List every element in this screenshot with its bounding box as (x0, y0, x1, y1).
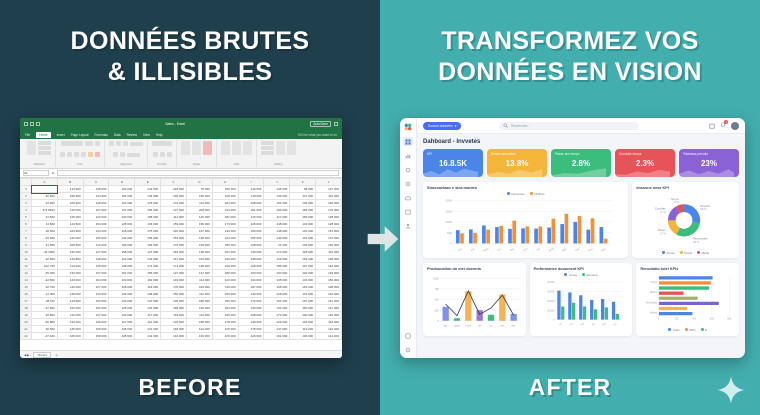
cell[interactable]: 119 000 (290, 326, 316, 333)
row-header[interactable]: 22 (21, 333, 32, 340)
formula-input[interactable] (57, 170, 339, 176)
cell[interactable]: 103 000 (290, 228, 316, 235)
cell[interactable]: 146 000 (109, 326, 135, 333)
table-row[interactable]: 232 500108 900134 000154 000146 000196 0… (21, 193, 342, 200)
cell[interactable]: 124 000 (109, 186, 135, 193)
cell[interactable]: 165 000 (83, 326, 109, 333)
undo-icon[interactable] (30, 122, 34, 126)
cell[interactable]: 129 000 (264, 319, 290, 326)
cell[interactable]: 114 000 (186, 277, 212, 284)
wrap-text-button[interactable] (130, 142, 143, 146)
row-header[interactable]: 12 (21, 263, 32, 270)
cell[interactable]: 32 750 (32, 284, 58, 291)
sidebar-item-charts[interactable] (403, 151, 413, 160)
cell[interactable]: 178 000 (238, 326, 264, 333)
cell[interactable]: 110 000 (316, 193, 342, 200)
align-left-icon[interactable] (109, 141, 114, 146)
sidebar-item-briefcase[interactable] (403, 193, 413, 202)
cell[interactable]: 174 000 (161, 263, 187, 270)
cell[interactable]: 159 000 (212, 186, 238, 193)
cell[interactable]: 147 000 (264, 326, 290, 333)
cell[interactable]: 148 000 (316, 200, 342, 207)
cell[interactable]: 109 000 (290, 200, 316, 207)
cell[interactable]: 186 000 (264, 263, 290, 270)
production-chart-card[interactable]: Prodoucation du mer doennts 025050075010… (423, 263, 526, 336)
percent-icon[interactable] (160, 152, 165, 157)
cell[interactable]: -27 400 (32, 333, 58, 340)
column-header[interactable]: H (212, 179, 238, 186)
monthly-chart-card[interactable]: Stracouclaan e sica montes Dépenses Chif… (423, 182, 628, 258)
cell[interactable]: 146 000 (161, 333, 187, 340)
cell[interactable]: 138 000 (238, 256, 264, 263)
cell[interactable]: 150 000 (161, 291, 187, 298)
cell[interactable]: 114 000 (186, 312, 212, 319)
cell[interactable]: 21 000 (264, 242, 290, 249)
cell[interactable]: 178 000 (212, 319, 238, 326)
cell[interactable]: 28 511 (32, 298, 58, 305)
cell[interactable]: 169 000 (290, 214, 316, 221)
cell[interactable]: 143 000 (290, 221, 316, 228)
cell[interactable]: 127 000 (83, 284, 109, 291)
align-right-icon[interactable] (123, 141, 128, 146)
cell[interactable]: 131 000 (264, 305, 290, 312)
cell[interactable]: 49 800 (32, 312, 58, 319)
row-header[interactable]: 11 (21, 256, 32, 263)
cell[interactable]: 144 500 (57, 221, 83, 228)
cell[interactable]: 118 000 (238, 193, 264, 200)
cell[interactable]: 151 000 (212, 249, 238, 256)
cell[interactable]: 146 000 (290, 319, 316, 326)
excel-sheet-bar[interactable]: ◀ ▶ Sheet1 ＋ (20, 350, 342, 358)
ribbon-tab-view[interactable]: View (143, 133, 150, 137)
cell[interactable]: 143 000 (109, 298, 135, 305)
row-header[interactable]: 3 (21, 200, 32, 207)
cell[interactable]: 112 000 (57, 312, 83, 319)
cell[interactable]: 32 500 (32, 193, 58, 200)
cell[interactable]: 118 000 (109, 284, 135, 291)
paste-button[interactable] (27, 141, 36, 155)
ribbon-tab-help[interactable]: Help (156, 133, 163, 137)
cell[interactable]: 183 000 (161, 249, 187, 256)
format-cells-button[interactable] (243, 141, 252, 155)
cell[interactable]: 183 000 (290, 207, 316, 214)
spreadsheet-table[interactable]: ABCDEFGHIJKL 1134 900148 000124 000144 0… (20, 178, 342, 340)
cell[interactable]: 137 000 (186, 270, 212, 277)
cell[interactable]: 123 000 (212, 277, 238, 284)
search-input[interactable]: Rechercher... (499, 122, 639, 130)
cell[interactable]: 128 000 (212, 193, 238, 200)
cell[interactable]: 116 000 (316, 249, 342, 256)
cell[interactable]: 180 000 (212, 242, 238, 249)
cell[interactable]: 156 000 (212, 298, 238, 305)
close-icon[interactable] (334, 122, 338, 126)
cell[interactable]: 137 000 (161, 207, 187, 214)
ribbon-tab-page-layout[interactable]: Page Layout (71, 133, 89, 137)
cell[interactable]: 148 000 (109, 221, 135, 228)
cell[interactable]: 146 000 (212, 256, 238, 263)
cell[interactable]: 162 000 (135, 277, 161, 284)
cell[interactable]: 143 000 (57, 277, 83, 284)
dashboard-sidebar[interactable] (400, 118, 417, 358)
cell[interactable]: 129 000 (238, 333, 264, 340)
row-header[interactable]: 19 (21, 312, 32, 319)
cell[interactable]: 117 000 (135, 312, 161, 319)
cell[interactable]: 208 000 (186, 207, 212, 214)
cell[interactable]: -22 500 (32, 277, 58, 284)
cell[interactable]: 115 000 (57, 207, 83, 214)
align-center-icon[interactable] (116, 141, 121, 146)
cell[interactable]: -44 3000 (32, 249, 58, 256)
cell[interactable]: 141 000 (316, 305, 342, 312)
cell[interactable]: 126 000 (212, 326, 238, 333)
excel-grid[interactable]: ABCDEFGHIJKL 1134 900148 000124 000144 0… (20, 178, 342, 350)
cell[interactable]: 169 000 (212, 291, 238, 298)
cell[interactable]: 158 000 (109, 249, 135, 256)
cell[interactable]: 134 000 (57, 319, 83, 326)
cell[interactable]: 153 000 (161, 312, 187, 319)
cell[interactable]: 134 000 (238, 277, 264, 284)
row-header[interactable]: 16 (21, 291, 32, 298)
cell[interactable]: 176 000 (316, 207, 342, 214)
cell[interactable]: 126 000 (212, 263, 238, 270)
cell[interactable]: 145 000 (57, 326, 83, 333)
cell[interactable]: 168 000 (186, 319, 212, 326)
format-painter-button[interactable] (38, 151, 51, 155)
table-row[interactable]: 18-47 600163 000152 000128 000136 000168… (21, 305, 342, 312)
cell[interactable]: 140 000 (161, 228, 187, 235)
cell[interactable]: 148 000 (238, 319, 264, 326)
cell[interactable]: 173 000 (264, 312, 290, 319)
cell[interactable]: 30 500 (32, 326, 58, 333)
cell[interactable]: 130 000 (83, 319, 109, 326)
cell[interactable]: 155 000 (238, 235, 264, 242)
cell[interactable]: 144 000 (57, 298, 83, 305)
cell[interactable]: 176 000 (238, 298, 264, 305)
cell[interactable]: 127 000 (316, 186, 342, 193)
cell[interactable]: 128 000 (238, 312, 264, 319)
table-row[interactable]: 531 500125 000129 000130 000158 000114 0… (21, 214, 342, 221)
cell[interactable]: 148 000 (264, 228, 290, 235)
cell[interactable]: 112 000 (186, 291, 212, 298)
cell[interactable]: 168 000 (264, 284, 290, 291)
cell[interactable]: 107 000 (290, 263, 316, 270)
cell[interactable]: 138 000 (57, 291, 83, 298)
ribbon-group-editing[interactable]: Editing (257, 140, 300, 167)
cell[interactable]: 145 000 (238, 305, 264, 312)
indent-icon[interactable] (113, 152, 118, 157)
ribbon-tab-file[interactable]: File (25, 133, 30, 137)
table-row[interactable]: 644 800144 500154 000148 000136 000159 0… (21, 221, 342, 228)
cell[interactable]: 108 900 (57, 193, 83, 200)
row-header[interactable]: 2 (21, 193, 32, 200)
cell[interactable]: 123 000 (212, 207, 238, 214)
cell[interactable]: 147 000 (290, 193, 316, 200)
kpi-card[interactable]: KPI 16.8.5K (423, 149, 483, 177)
cell[interactable]: 152 000 (83, 305, 109, 312)
fill-color-icon[interactable] (88, 152, 93, 157)
table-row[interactable]: 1949 800112 000137 000143 000117 000153 … (21, 312, 342, 319)
cell[interactable]: -11 000 (32, 291, 58, 298)
cell[interactable]: 137 000 (83, 312, 109, 319)
cell[interactable]: -45 000 (32, 270, 58, 277)
cell[interactable]: 128 000 (316, 221, 342, 228)
row-header[interactable]: 20 (21, 319, 32, 326)
table-row[interactable]: 13-45 000133 000167 000151 000156 000127… (21, 270, 342, 277)
notifications-button[interactable]: 3 (720, 122, 726, 129)
excel-ribbon-tabs[interactable]: File Home Insert Page Layout Formulas Da… (20, 130, 342, 139)
ribbon-tab-insert[interactable]: Insert (57, 133, 65, 137)
cell[interactable]: 161 000 (264, 333, 290, 340)
row-header[interactable]: 9 (21, 242, 32, 249)
cell[interactable]: 139 000 (186, 242, 212, 249)
cell[interactable]: 163 000 (186, 284, 212, 291)
cell[interactable]: 126 000 (238, 221, 264, 228)
cell[interactable]: 102 700 (32, 263, 58, 270)
cell[interactable]: 98 000 (290, 186, 316, 193)
cut-button[interactable] (38, 141, 51, 145)
kpi-card[interactable]: Passe aux temps 2.8% (551, 149, 611, 177)
cell[interactable]: 167 000 (83, 270, 109, 277)
kpi-card[interactable]: Primes annuelles 13.8% (487, 149, 547, 177)
cell[interactable]: 143 800 (57, 256, 83, 263)
cell[interactable]: 134 900 (57, 186, 83, 193)
cell[interactable]: 140 000 (238, 291, 264, 298)
sidebar-item-layers[interactable] (403, 165, 413, 174)
cell[interactable]: 146 000 (186, 214, 212, 221)
number-format-select[interactable] (152, 141, 172, 146)
borders-icon[interactable] (81, 152, 86, 157)
clear-button[interactable] (261, 151, 274, 155)
spreadsheet-body[interactable]: 1134 900148 000124 000144 000218 00076 0… (21, 186, 342, 340)
cell[interactable]: 136 000 (290, 333, 316, 340)
sort-filter-button[interactable] (276, 141, 285, 155)
cell[interactable]: 140 000 (264, 235, 290, 242)
cell[interactable]: 180 000 (186, 298, 212, 305)
cell[interactable]: 137 000 (186, 228, 212, 235)
row-header[interactable]: 14 (21, 277, 32, 284)
cell[interactable]: 128 000 (83, 200, 109, 207)
cell[interactable]: 136 000 (135, 221, 161, 228)
cell[interactable]: 44 800 (32, 221, 58, 228)
cell[interactable]: 129 000 (83, 214, 109, 221)
cell[interactable]: 117 000 (109, 319, 135, 326)
cell[interactable]: 173 8634 (32, 207, 58, 214)
row-header[interactable]: 4 (21, 207, 32, 214)
cell[interactable]: 119 000 (264, 256, 290, 263)
sidebar-item-help[interactable] (403, 331, 413, 340)
cell[interactable]: 143 000 (83, 291, 109, 298)
bold-icon[interactable] (60, 152, 65, 157)
sheet-nav-icons[interactable]: ◀ ▶ (24, 353, 29, 357)
cell[interactable]: 151 000 (316, 228, 342, 235)
cell[interactable]: 218 000 (161, 186, 187, 193)
cell[interactable]: 143 000 (238, 186, 264, 193)
font-family-select[interactable] (61, 141, 83, 146)
excel-window[interactable]: Sales - Excel AutoSave File Home Insert … (20, 118, 342, 358)
autosum-button[interactable] (261, 141, 274, 145)
cell[interactable]: 128 000 (290, 249, 316, 256)
cell[interactable]: 147 000 (135, 298, 161, 305)
cell[interactable]: 148 000 (186, 235, 212, 242)
name-box[interactable]: A1 (23, 170, 49, 176)
cell[interactable]: 152 000 (83, 298, 109, 305)
row-header[interactable]: 8 (21, 235, 32, 242)
cell[interactable]: 148 000 (264, 221, 290, 228)
cell[interactable]: 124 000 (109, 200, 135, 207)
cell[interactable]: 143 000 (83, 228, 109, 235)
cell[interactable]: 122 000 (316, 312, 342, 319)
cell[interactable]: 140 000 (290, 312, 316, 319)
cell[interactable]: 133 000 (316, 270, 342, 277)
cell[interactable]: 128 000 (316, 214, 342, 221)
cell[interactable]: 181 000 (212, 214, 238, 221)
cell[interactable]: 136 000 (135, 305, 161, 312)
cell[interactable]: 133 000 (316, 242, 342, 249)
cell[interactable]: 176 000 (135, 200, 161, 207)
sidebar-item-users[interactable] (403, 221, 413, 230)
cell[interactable]: 176 000 (161, 242, 187, 249)
avatar[interactable] (731, 122, 739, 130)
cell[interactable]: 153 000 (290, 256, 316, 263)
cell[interactable]: 159 000 (186, 221, 212, 228)
italic-icon[interactable] (67, 152, 72, 157)
row-header[interactable]: 5 (21, 214, 32, 221)
cell[interactable]: 136 000 (264, 186, 290, 193)
cell[interactable]: 141 000 (316, 333, 342, 340)
column-header[interactable]: G (186, 179, 212, 186)
cell[interactable]: 159 000 (238, 228, 264, 235)
cell[interactable]: 145 000 (212, 312, 238, 319)
cell[interactable]: 168 000 (161, 305, 187, 312)
cell[interactable]: 31 500 (32, 214, 58, 221)
source-selector-button[interactable]: Source données ▾ (423, 122, 461, 130)
redo-icon[interactable] (36, 122, 40, 126)
cell[interactable]: 165 900 (57, 200, 83, 207)
cell[interactable]: 180 000 (212, 270, 238, 277)
cell[interactable]: 145 000 (57, 235, 83, 242)
cell[interactable]: 151 000 (109, 270, 135, 277)
ribbon-group-cells[interactable]: Cells (217, 140, 257, 167)
calendar-icon[interactable] (709, 123, 715, 129)
column-header[interactable]: I (238, 179, 264, 186)
cell[interactable]: 31 500 (32, 242, 58, 249)
column-header[interactable]: E (135, 179, 161, 186)
cell[interactable]: 134 000 (290, 277, 316, 284)
cell[interactable]: 124 000 (186, 326, 212, 333)
font-size-select[interactable] (85, 141, 93, 146)
row-header[interactable]: 17 (21, 298, 32, 305)
cell[interactable]: 172 000 (135, 263, 161, 270)
cell[interactable]: 175 000 (135, 228, 161, 235)
cell[interactable]: 165 000 (83, 235, 109, 242)
ribbon-group-styles[interactable]: Styles (177, 140, 217, 167)
cell[interactable]: 148 000 (83, 256, 109, 263)
delete-cells-button[interactable] (232, 141, 241, 155)
sheet-tab-sheet1[interactable]: Sheet1 (33, 352, 51, 358)
add-sheet-button[interactable]: ＋ (55, 353, 58, 357)
cell[interactable]: 122 000 (109, 256, 135, 263)
cell[interactable]: 155 000 (135, 235, 161, 242)
cell[interactable]: 163 000 (290, 284, 316, 291)
sidebar-item-calendar[interactable] (403, 207, 413, 216)
cell[interactable]: 128 000 (316, 284, 342, 291)
cell[interactable]: 118 000 (316, 319, 342, 326)
table-row[interactable]: 1728 511144 000152 000143 000147 000136 … (21, 298, 342, 305)
quick-access-toolbar[interactable] (24, 122, 40, 126)
cell[interactable]: 134 000 (83, 193, 109, 200)
column-header[interactable]: C (83, 179, 109, 186)
cell[interactable]: 114 000 (57, 263, 83, 270)
cell[interactable]: 166 000 (135, 207, 161, 214)
cell[interactable]: 127 000 (135, 249, 161, 256)
tell-me-search[interactable]: Tell me what you want to do (298, 133, 337, 137)
cell[interactable]: 157 000 (83, 207, 109, 214)
row-header[interactable]: 1 (21, 186, 32, 193)
cell[interactable]: 142 000 (109, 235, 135, 242)
column-header[interactable]: J (264, 179, 290, 186)
cell[interactable]: 23 900 (32, 200, 58, 207)
cell[interactable]: 139 000 (264, 193, 290, 200)
cell[interactable]: 146 000 (135, 193, 161, 200)
cell[interactable]: 164 000 (83, 277, 109, 284)
cell[interactable]: 119 000 (83, 242, 109, 249)
fill-button[interactable] (261, 146, 274, 150)
cell[interactable]: 149 000 (161, 277, 187, 284)
cell[interactable]: 135 000 (83, 263, 109, 270)
cell[interactable]: 148 000 (161, 326, 187, 333)
row-header[interactable]: 7 (21, 228, 32, 235)
underline-icon[interactable] (74, 152, 79, 157)
table-row[interactable]: 22-27 400166 000158 000128 000141 000146… (21, 333, 342, 340)
cell[interactable]: 149 000 (290, 242, 316, 249)
donut-chart-card[interactable]: Imssone nese KPI Répartit28 %Renouvable3… (632, 182, 739, 258)
cell[interactable]: 144 000 (290, 235, 316, 242)
cell[interactable]: 143 000 (316, 291, 342, 298)
table-row[interactable]: 12102 700114 000135 000148 000172 000174… (21, 263, 342, 270)
cell[interactable]: 158 000 (83, 333, 109, 340)
cell[interactable]: 130 000 (109, 214, 135, 221)
cell[interactable]: 122 000 (316, 326, 342, 333)
table-row[interactable]: 931 500108 500119 000166 000154 000176 0… (21, 242, 342, 249)
cell[interactable]: 164 000 (186, 256, 212, 263)
cell-styles-button[interactable] (203, 141, 212, 155)
column-header[interactable]: L (316, 179, 342, 186)
cell[interactable]: -23 600 (32, 235, 58, 242)
column-header[interactable]: K (290, 179, 316, 186)
dashboard-window[interactable]: Source données ▾ Rechercher... 3 (400, 118, 745, 358)
cell[interactable]: 123 000 (212, 235, 238, 242)
cell[interactable]: 76 000 (186, 186, 212, 193)
merge-center-button[interactable] (127, 153, 140, 157)
row-header[interactable]: 18 (21, 305, 32, 312)
cell[interactable]: 160 000 (264, 270, 290, 277)
cell[interactable]: 172 000 (264, 249, 290, 256)
select-all-corner[interactable] (21, 179, 32, 186)
cell[interactable]: 143 000 (109, 312, 135, 319)
cell[interactable]: 154 000 (83, 221, 109, 228)
cell[interactable]: 184 000 (212, 305, 238, 312)
cell[interactable]: 117 000 (264, 214, 290, 221)
cell[interactable] (32, 186, 58, 193)
excel-formula-bar[interactable]: A1 fx (20, 169, 342, 178)
table-row[interactable]: 4173 8634115 000157 000137 000166 000137… (21, 207, 342, 214)
ribbon-group-alignment[interactable]: Alignment (105, 140, 148, 167)
cell[interactable]: 119 000 (212, 284, 238, 291)
cell[interactable]: 107 000 (290, 298, 316, 305)
cell[interactable]: 196 000 (161, 193, 187, 200)
conditional-formatting-button[interactable] (181, 141, 190, 155)
excel-ribbon[interactable]: Clipboard (20, 139, 342, 169)
